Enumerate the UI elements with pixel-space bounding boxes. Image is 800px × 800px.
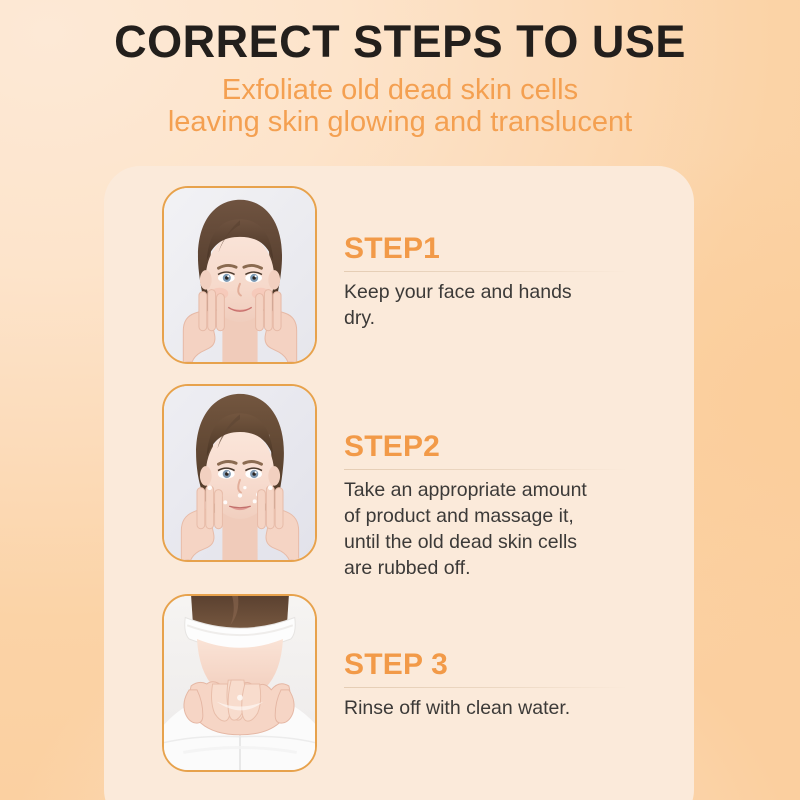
- step-2-heading: STEP2: [344, 432, 644, 462]
- product-instructions-poster: CORRECT STEPS TO USE Exfoliate old dead …: [0, 0, 800, 800]
- step-2-body-line-1: Take an appropriate amount: [344, 477, 644, 503]
- step-1-divider: [344, 271, 628, 272]
- step-1-body-line-1: Keep your face and hands: [344, 279, 644, 305]
- step-1-photo: [162, 186, 317, 364]
- step-2-text: STEP2 Take an appropriate amount of prod…: [344, 384, 644, 582]
- steps-list: STEP1 Keep your face and hands dry.: [104, 166, 694, 800]
- step-2-body-line-3: until the old dead skin cells: [344, 529, 644, 555]
- step-3-divider: [344, 687, 628, 688]
- step-1-heading: STEP1: [344, 234, 644, 264]
- step-2-body-line-2: of product and massage it,: [344, 503, 644, 529]
- step-3-body: Rinse off with clean water.: [344, 695, 644, 721]
- poster-header: CORRECT STEPS TO USE Exfoliate old dead …: [0, 0, 800, 139]
- step-3-body-line-1: Rinse off with clean water.: [344, 695, 644, 721]
- step-2-photo: [162, 384, 317, 562]
- step-1-body-line-2: dry.: [344, 305, 644, 331]
- page-title: CORRECT STEPS TO USE: [0, 16, 800, 68]
- step-item-3: STEP 3 Rinse off with clean water.: [104, 594, 694, 772]
- step-3-text: STEP 3 Rinse off with clean water.: [344, 594, 644, 721]
- step-3-photo: [162, 594, 317, 772]
- step-2-body-line-4: are rubbed off.: [344, 555, 644, 581]
- subtitle-line-1: Exfoliate old dead skin cells: [0, 74, 800, 106]
- step-2-divider: [344, 469, 628, 470]
- step-item-2: STEP2 Take an appropriate amount of prod…: [104, 384, 694, 582]
- page-subtitle: Exfoliate old dead skin cells leaving sk…: [0, 74, 800, 139]
- step-2-body: Take an appropriate amount of product an…: [344, 477, 644, 582]
- step-1-body: Keep your face and hands dry.: [344, 279, 644, 331]
- subtitle-line-2: leaving skin glowing and translucent: [0, 106, 800, 138]
- step-3-heading: STEP 3: [344, 650, 644, 680]
- step-1-text: STEP1 Keep your face and hands dry.: [344, 186, 644, 331]
- step-item-1: STEP1 Keep your face and hands dry.: [104, 186, 694, 364]
